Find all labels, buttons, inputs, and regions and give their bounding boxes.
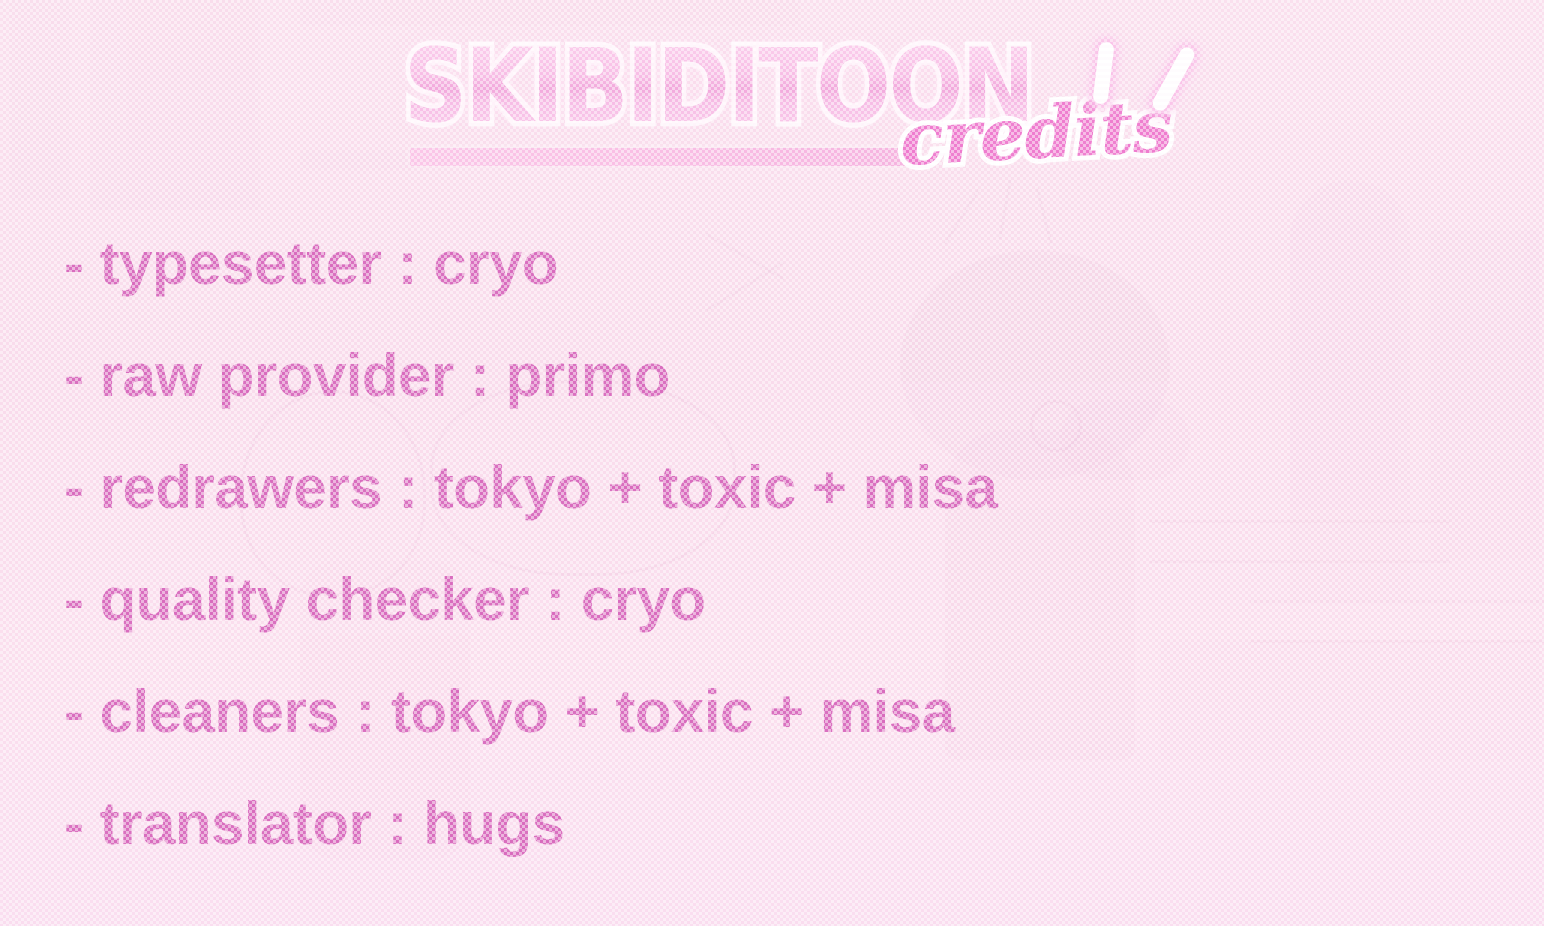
logo-underline-bar xyxy=(410,148,908,166)
sparkle-tick-icon-2 xyxy=(1150,45,1197,113)
credits-script-outline: credits xyxy=(898,90,1173,176)
credit-line-typesetter: - typesetter : cryo xyxy=(64,208,1484,320)
credits-page: SKIBIDITOON SKIBIDITOON credits credits … xyxy=(0,0,1544,926)
credit-line-translator: - translator : hugs xyxy=(64,768,1484,880)
credit-line-raw-provider: - raw provider : primo xyxy=(64,320,1484,432)
credits-list: - typesetter : cryo - raw provider : pri… xyxy=(64,208,1484,880)
credit-line-quality-checker: - quality checker : cryo xyxy=(64,544,1484,656)
credit-line-cleaners: - cleaners : tokyo + toxic + misa xyxy=(64,656,1484,768)
credit-line-redrawers: - redrawers : tokyo + toxic + misa xyxy=(64,432,1484,544)
header: SKIBIDITOON SKIBIDITOON credits credits xyxy=(0,0,1544,200)
